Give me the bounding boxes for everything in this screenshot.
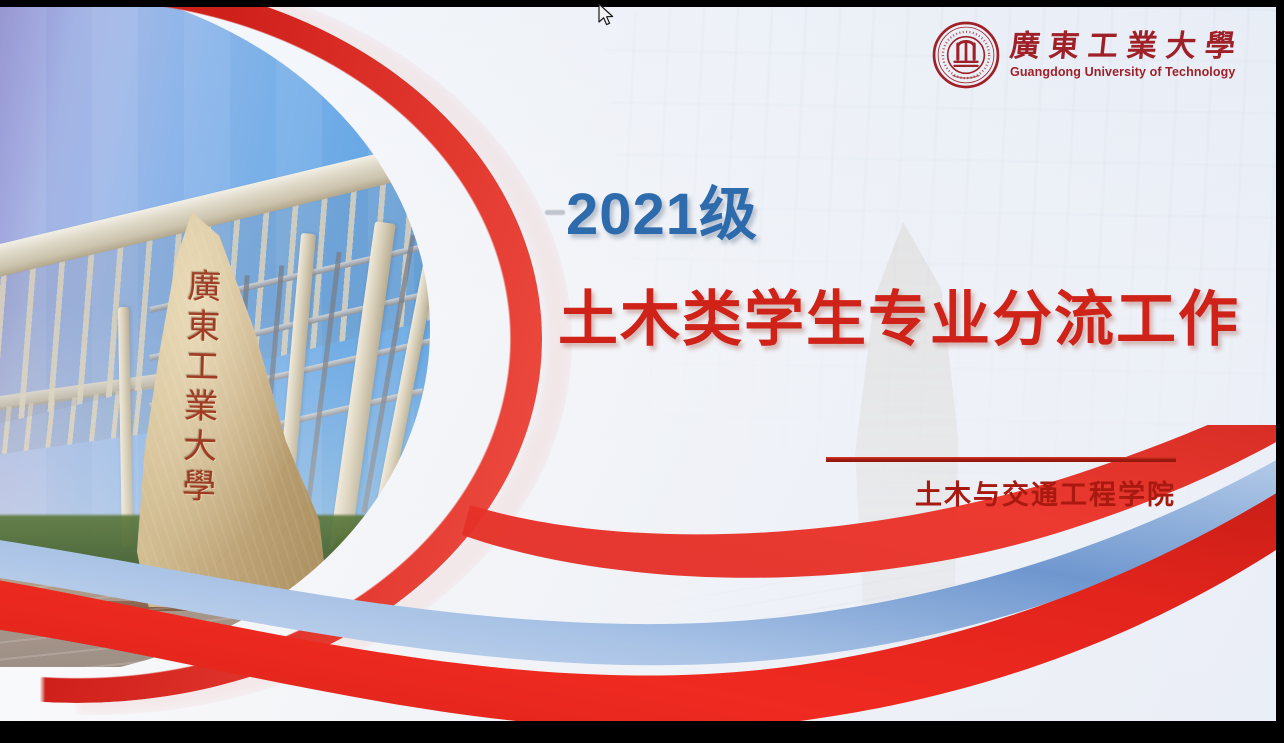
presentation-stage: 廣東工業大學 bbox=[0, 0, 1284, 743]
department-subtitle: 土木与交通工程学院 bbox=[826, 473, 1176, 512]
title-divider-rule bbox=[826, 457, 1176, 462]
letterbox-top bbox=[0, 0, 1284, 7]
logo-wordmark: 廣東工業大學 Guangdong University of Technolog… bbox=[1010, 31, 1244, 79]
logo-english-name: Guangdong University of Technology bbox=[1010, 65, 1235, 79]
year-label: 2021级 bbox=[566, 167, 758, 251]
year-accent-dash bbox=[545, 210, 565, 215]
letterbox-bottom bbox=[0, 721, 1284, 743]
logo-chinese-name: 廣東工業大學 bbox=[1008, 31, 1245, 63]
university-logo: 廣東工業大學 Guangdong University of Technolog… bbox=[932, 21, 1244, 89]
ribbon-decoration bbox=[0, 425, 1276, 721]
mouse-pointer-icon bbox=[598, 3, 616, 29]
letterbox-right bbox=[1276, 0, 1284, 743]
university-seal-icon bbox=[932, 21, 1000, 89]
slide-canvas: 廣東工業大學 bbox=[0, 7, 1276, 721]
page-title: 土木类学生专业分流工作 bbox=[558, 271, 1240, 358]
